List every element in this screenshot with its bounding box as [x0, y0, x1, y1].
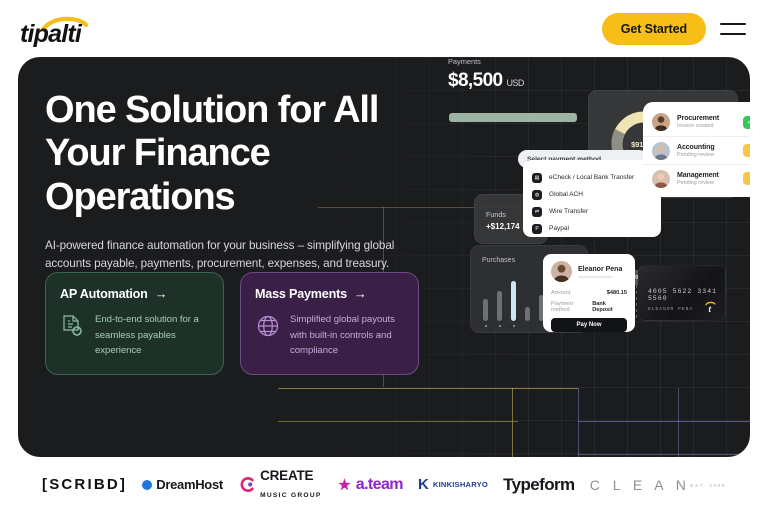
payment-method-option[interactable]: ◍ Global ACH	[523, 186, 661, 203]
feature-card-body: Simplified global payouts with built-in …	[255, 312, 404, 359]
hero-illustration: $91,250 Invoices POs Payments Funds +$12…	[448, 57, 750, 457]
approval-row[interactable]: Accounting Pending review	[643, 136, 750, 164]
approvals-card: Procurement Invoice created ✓ Accounting…	[643, 102, 750, 197]
purchases-label: Purchases	[482, 257, 515, 264]
avatar	[652, 142, 670, 160]
payment-method-label: eCheck / Local Bank Transfer	[549, 174, 634, 181]
approval-title: Procurement	[677, 115, 736, 122]
feature-card-title: Mass Payments →	[255, 286, 404, 301]
payments-progress-bar	[449, 113, 577, 122]
customer-logo-strip: [SCRIBD] DreamHost CREATE MUSIC GROUP a.…	[0, 457, 768, 512]
document-gear-icon	[60, 313, 86, 339]
brand-logo-text: a.team	[356, 476, 403, 494]
bank-icon: ▤	[532, 173, 542, 183]
feature-card-ap-automation[interactable]: AP Automation → End-to-end solution for …	[45, 272, 224, 375]
funds-label: Funds	[486, 210, 506, 219]
approval-subtitle: Invoice created	[677, 123, 736, 129]
axis-dot	[483, 325, 488, 327]
dreamhost-dot-icon	[142, 480, 152, 490]
svg-text:t: t	[708, 305, 711, 313]
payments-connector-line	[636, 285, 637, 321]
person-header: Eleanor Pena	[543, 254, 635, 282]
approval-texts: Procurement Invoice created	[677, 115, 736, 129]
brand-logo-subtext: EST. 2005	[690, 483, 726, 488]
bar	[483, 299, 488, 321]
feature-card-title: AP Automation →	[60, 286, 209, 301]
payment-method-option[interactable]: P Paypal	[523, 220, 661, 237]
page-title: One Solution for All Your Finance Operat…	[45, 89, 445, 219]
amount-value: $480.15	[607, 290, 627, 296]
hamburger-line	[720, 23, 746, 25]
pay-now-button[interactable]: Pay Now	[551, 318, 627, 332]
payment-method-option[interactable]: ⇄ Wire Transfer	[523, 203, 661, 220]
brand-logo-kinkisharyo[interactable]: K KINKISHARYO	[418, 470, 488, 500]
approval-subtitle: Pending review	[677, 152, 736, 158]
payment-method-label: Paypal	[549, 225, 569, 232]
get-started-button[interactable]: Get Started	[602, 13, 706, 45]
feature-card-description: End-to-end solution for a seamless payab…	[95, 312, 209, 359]
brand-logo-text: [SCRIBD]	[42, 476, 127, 493]
approval-texts: Management Pending review	[677, 172, 736, 186]
hero-copy: One Solution for All Your Finance Operat…	[45, 89, 445, 273]
person-detail-row: Amount $480.15	[551, 290, 627, 296]
brand-logo-scribd[interactable]: [SCRIBD]	[42, 470, 127, 500]
header-actions: Get Started	[602, 13, 746, 45]
feature-cards: AP Automation → End-to-end solution for …	[45, 272, 419, 375]
hamburger-line	[720, 33, 746, 35]
kinkisharyo-mark-icon: K	[418, 476, 429, 493]
bar	[511, 281, 516, 321]
person-detail-row: Payment method Bank Deposit	[551, 301, 627, 313]
paypal-icon: P	[532, 224, 542, 234]
avatar	[652, 113, 670, 131]
avatar	[652, 170, 670, 188]
feature-card-body: End-to-end solution for a seamless payab…	[60, 312, 209, 359]
logo-wordmark: tipalti	[20, 20, 81, 49]
approval-row[interactable]: Management Pending review	[643, 164, 750, 192]
card-brand-icon: t	[705, 300, 716, 312]
approval-subtitle: Pending review	[677, 180, 736, 186]
approval-row[interactable]: Procurement Invoice created ✓	[643, 108, 750, 136]
credit-card-holder: ELEANOR PENA	[648, 307, 693, 312]
approval-texts: Accounting Pending review	[677, 144, 736, 158]
payments-label: Payments	[448, 57, 578, 66]
hero-subcopy: AI-powered finance automation for your b…	[45, 237, 403, 273]
globe-icon	[255, 313, 281, 339]
feature-card-title-text: AP Automation	[60, 287, 148, 301]
wire-icon: ⇄	[532, 207, 542, 217]
bar	[497, 291, 502, 321]
hamburger-icon[interactable]	[720, 21, 746, 37]
person-placeholder-line	[578, 276, 612, 278]
brand-logo-textblock: CREATE MUSIC GROUP	[260, 468, 322, 502]
payment-method-label: Wire Transfer	[549, 208, 588, 215]
tipalti-logo[interactable]: tipalti	[14, 10, 106, 48]
payment-method-label: Global ACH	[549, 191, 583, 198]
brand-logo-a-team[interactable]: a.team	[337, 470, 403, 500]
avatar	[551, 261, 572, 282]
brand-logo-text: C L E A N	[590, 477, 691, 493]
headline-line-3: Operations	[45, 176, 235, 218]
payment-method-list: ▤ eCheck / Local Bank Transfer ◍ Global …	[523, 160, 661, 237]
method-label: Payment method	[551, 301, 592, 313]
funds-value: +$12,174	[486, 222, 520, 231]
payments-amount: $8,500USD	[448, 70, 578, 92]
brand-logo-clean[interactable]: C L E A N EST. 2005	[590, 470, 726, 500]
headline-line-1: One Solution for All	[45, 89, 378, 131]
feature-card-title-text: Mass Payments	[255, 287, 347, 301]
arrow-right-icon: →	[354, 286, 367, 301]
create-music-mark-icon	[238, 476, 255, 493]
a-team-star-icon	[337, 477, 352, 492]
payments-block: Payments $8,500USD	[448, 57, 578, 119]
hero-panel: One Solution for All Your Finance Operat…	[18, 57, 750, 457]
headline-line-2: Your Finance	[45, 132, 270, 174]
brand-logo-text: KINKISHARYO	[433, 480, 488, 489]
payments-currency: USD	[507, 78, 524, 88]
bar	[525, 307, 530, 321]
approval-title: Accounting	[677, 144, 736, 151]
arrow-right-icon: →	[155, 286, 168, 301]
brand-logo-text: DreamHost	[156, 477, 223, 492]
person-name: Eleanor Pena	[578, 266, 622, 273]
globe-small-icon: ◍	[532, 190, 542, 200]
brand-logo-dreamhost[interactable]: DreamHost	[142, 470, 223, 500]
brand-logo-create-music-group[interactable]: CREATE MUSIC GROUP	[238, 470, 322, 500]
amount-label: Amount	[551, 290, 570, 296]
payments-amount-value: $8,500	[448, 70, 503, 91]
person-name-block: Eleanor Pena	[578, 266, 622, 278]
site-header: tipalti Get Started	[0, 0, 768, 57]
status-badge-approved: ✓	[743, 116, 750, 129]
feature-card-mass-payments[interactable]: Mass Payments → Simplified global payout…	[240, 272, 419, 375]
approval-title: Management	[677, 172, 736, 179]
brand-logo-subtext: MUSIC GROUP	[260, 492, 322, 499]
purchases-axis-dots	[483, 325, 516, 327]
axis-dot	[497, 325, 502, 327]
person-detail-rows: Amount $480.15 Payment method Bank Depos…	[543, 282, 635, 313]
payment-method-option[interactable]: ▤ eCheck / Local Bank Transfer	[523, 169, 661, 186]
person-payment-card: Eleanor Pena Amount $480.15 Payment meth…	[543, 254, 635, 332]
brand-logo-text: CREATE	[260, 468, 313, 483]
axis-dot	[511, 325, 516, 327]
feature-card-description: Simplified global payouts with built-in …	[290, 312, 404, 359]
credit-card-graphic: 4005 5622 3341 5560 ELEANOR PENA t	[638, 265, 726, 321]
method-value: Bank Deposit	[592, 301, 627, 313]
brand-logo-text: Typeform	[503, 475, 574, 495]
status-badge-pending	[743, 172, 750, 185]
brand-logo-typeform[interactable]: Typeform	[503, 470, 574, 500]
status-badge-pending	[743, 144, 750, 157]
